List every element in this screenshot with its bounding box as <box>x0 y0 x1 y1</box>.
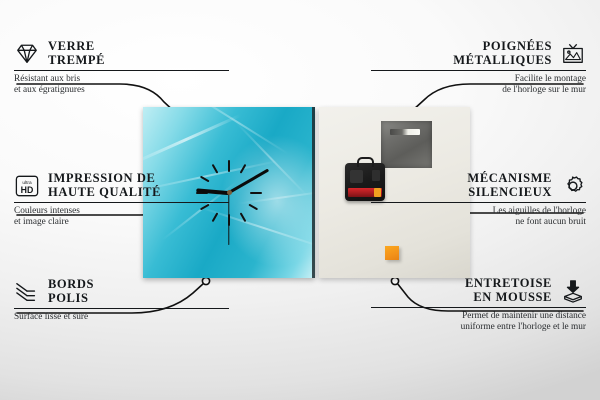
foam-spacer <box>385 246 399 260</box>
feature-mecanisme-silencieux: MÉCANISME SILENCIEUX Les aiguilles de l'… <box>371 172 586 228</box>
feature-header: BORDS POLIS <box>14 278 229 305</box>
feature-header: ultra HD IMPRESSION DE HAUTE QUALITÉ <box>14 172 229 199</box>
divider <box>14 70 229 71</box>
feature-title: IMPRESSION DE HAUTE QUALITÉ <box>48 172 161 199</box>
feature-poignees-metalliques: POIGNÉES MÉTALLIQUES Facilite le montage… <box>371 40 586 96</box>
divider <box>14 308 229 309</box>
gear-icon <box>560 174 586 198</box>
mechanism-hanger-loop <box>357 157 374 167</box>
ultra-hd-icon: ultra HD <box>14 174 40 198</box>
bracket-slot <box>390 129 420 135</box>
feature-verre-trempe: VERRE TREMPÉ Résistant aux bris et aux é… <box>14 40 229 96</box>
divider <box>371 202 586 203</box>
panel-edge <box>312 107 315 278</box>
feature-title: POIGNÉES MÉTALLIQUES <box>453 40 552 67</box>
feature-subtitle: Permet de maintenir une distance uniform… <box>371 311 586 333</box>
divider <box>371 307 586 308</box>
feature-title: BORDS POLIS <box>48 278 94 305</box>
feature-subtitle: Résistant aux bris et aux égratignures <box>14 74 229 96</box>
feature-bords-polis: BORDS POLIS Surface lisse et sûre <box>14 278 229 323</box>
feature-impression-haute-qualite: ultra HD IMPRESSION DE HAUTE QUALITÉ Cou… <box>14 172 229 228</box>
mechanism-detail <box>350 170 363 183</box>
feature-header: POIGNÉES MÉTALLIQUES <box>371 40 586 67</box>
divider <box>371 70 586 71</box>
polished-edges-icon <box>14 280 40 304</box>
feature-title: MÉCANISME SILENCIEUX <box>467 172 552 199</box>
foam-spacer-arrow-icon <box>560 279 586 303</box>
feature-subtitle: Facilite le montage de l'horloge sur le … <box>371 74 586 96</box>
feature-header: MÉCANISME SILENCIEUX <box>371 172 586 199</box>
metal-hanging-bracket <box>381 121 432 168</box>
infographic-canvas: VERRE TREMPÉ Résistant aux bris et aux é… <box>0 0 600 400</box>
feature-title: ENTRETOISE EN MOUSSE <box>465 277 552 304</box>
feature-header: ENTRETOISE EN MOUSSE <box>371 277 586 304</box>
divider <box>14 202 229 203</box>
diamond-icon <box>14 42 40 66</box>
wall-mount-frame-icon <box>560 42 586 66</box>
feature-subtitle: Couleurs intenses et image claire <box>14 206 229 228</box>
feature-header: VERRE TREMPÉ <box>14 40 229 67</box>
hd-label: HD <box>21 184 34 194</box>
feature-subtitle: Surface lisse et sûre <box>14 312 229 323</box>
feature-entretoise-en-mousse: ENTRETOISE EN MOUSSE Permet de maintenir… <box>371 277 586 333</box>
feature-subtitle: Les aiguilles de l'horloge ne font aucun… <box>371 206 586 228</box>
feature-title: VERRE TREMPÉ <box>48 40 105 67</box>
